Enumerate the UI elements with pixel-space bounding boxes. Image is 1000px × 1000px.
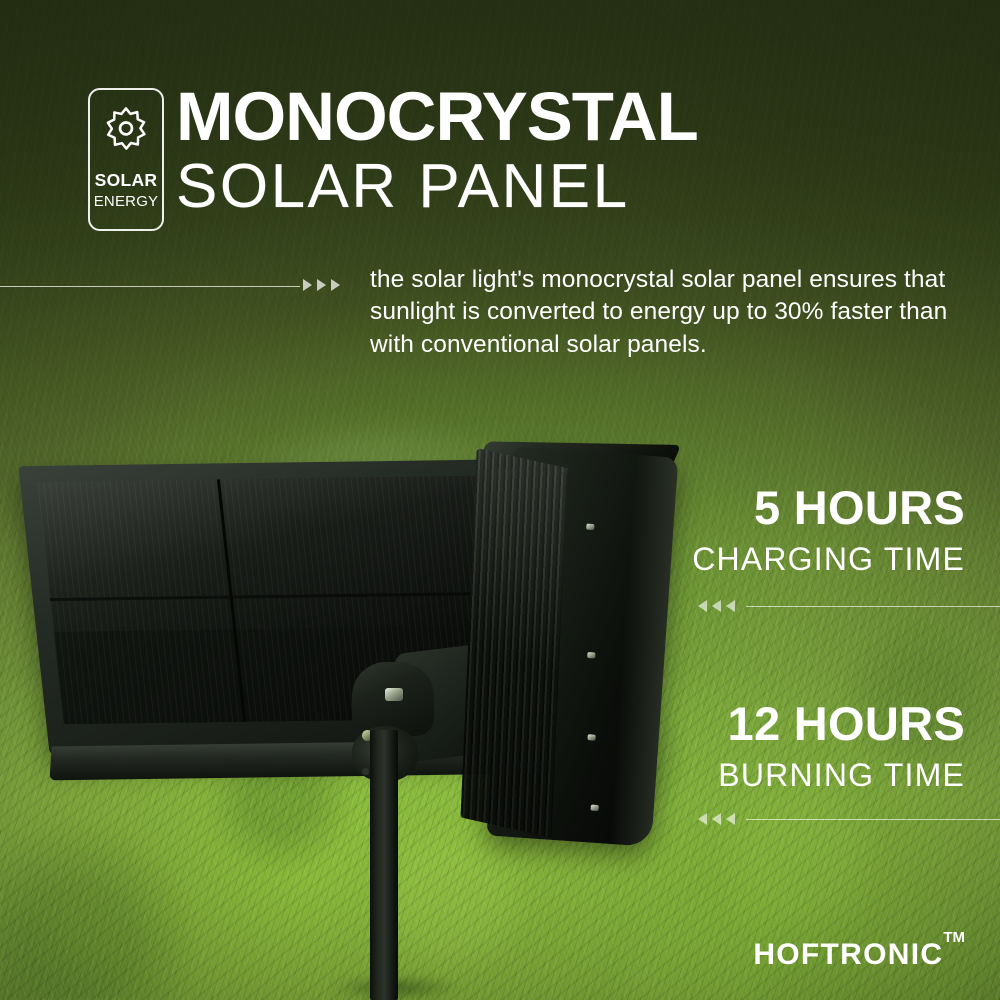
left-triangle-icon <box>698 600 707 612</box>
page-title: MONOCRYSTAL SOLAR PANEL <box>176 84 698 218</box>
stat-divider-charging <box>698 600 1000 612</box>
lamp-head <box>447 443 674 846</box>
brand-logo: HOFTRONICTM <box>753 938 965 972</box>
lamp-heatsink-shading <box>461 448 568 838</box>
right-triangle-icon <box>331 279 340 291</box>
solar-sun-icon <box>103 106 149 152</box>
stat-burning-time: 12 HOURS BURNING TIME <box>718 700 965 791</box>
screw-icon <box>586 524 594 531</box>
left-triangle-icon <box>712 813 721 825</box>
headline-secondary: SOLAR PANEL <box>176 156 698 218</box>
left-triangle-icon <box>698 813 707 825</box>
divider-line <box>746 819 1000 820</box>
description-text: the solar light's monocrystal solar pane… <box>370 264 970 361</box>
description-rule <box>0 286 300 287</box>
screw-icon <box>587 652 595 659</box>
product-image <box>0 430 700 1000</box>
left-triangle-icon <box>726 813 735 825</box>
screw-icon <box>591 805 599 812</box>
brand-name: HOFTRONIC <box>753 938 943 971</box>
badge-title: SOLAR <box>95 172 158 190</box>
left-triangle-icon <box>726 600 735 612</box>
stat-label: CHARGING TIME <box>692 543 965 575</box>
stat-divider-burning <box>698 813 1000 825</box>
stat-value: 12 HOURS <box>718 700 965 747</box>
stat-charging-time: 5 HOURS CHARGING TIME <box>692 484 965 575</box>
solar-energy-badge: SOLAR ENERGY <box>88 88 164 231</box>
swivel-screw-icon <box>385 688 403 701</box>
solar-panel-gloss <box>37 476 491 632</box>
stat-label: BURNING TIME <box>718 759 965 791</box>
badge-subtitle: ENERGY <box>94 194 159 209</box>
headline-primary: MONOCRYSTAL <box>176 84 698 150</box>
screw-icon <box>587 734 595 741</box>
right-triangle-icon <box>303 279 312 291</box>
promo-banner: SOLAR ENERGY MONOCRYSTAL SOLAR PANEL the… <box>0 0 1000 1000</box>
triple-right-triangle-marker-icon <box>303 279 340 291</box>
stat-value: 5 HOURS <box>692 484 965 531</box>
ground-stake-pole <box>370 730 398 1000</box>
trademark-symbol: TM <box>943 929 965 946</box>
right-triangle-icon <box>317 279 326 291</box>
divider-line <box>746 606 1000 607</box>
left-triangle-icon <box>712 600 721 612</box>
